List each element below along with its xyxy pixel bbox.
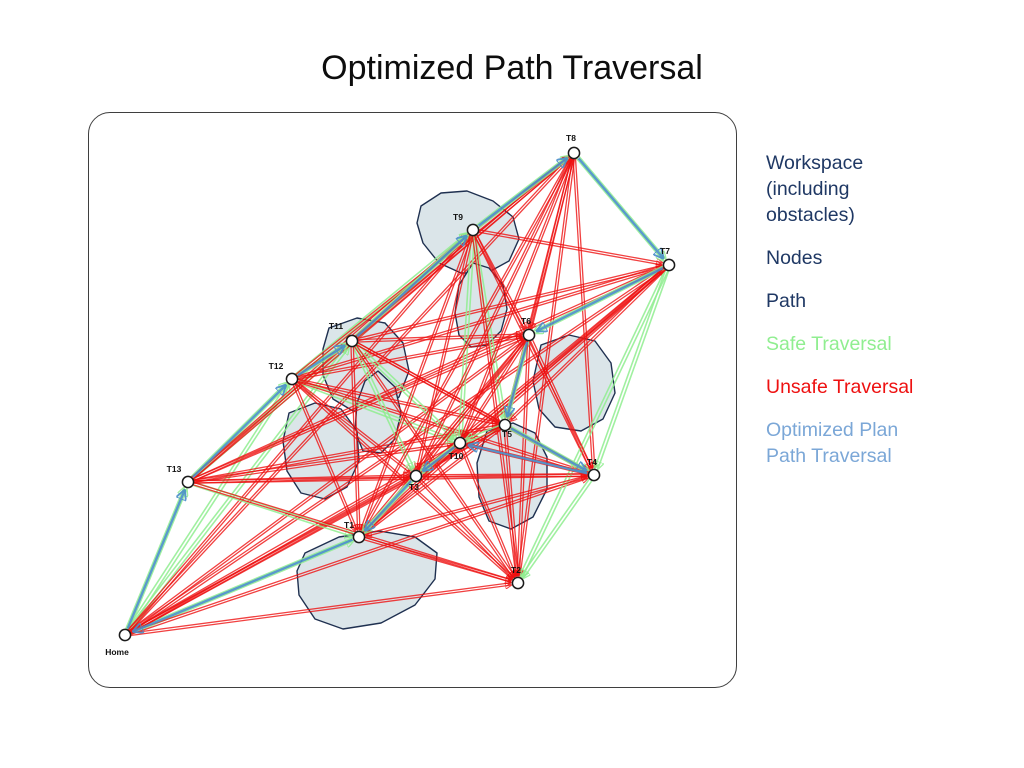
legend-path: Path <box>766 288 996 314</box>
path-traversal-graph: HomeT13T12T11T9T8T7T6T5T4T10T3T1T2 <box>89 113 737 688</box>
legend-unsafe-traversal: Unsafe Traversal <box>766 374 996 400</box>
node-Home[interactable]: Home <box>105 629 130 657</box>
node-label-T11: T11 <box>329 321 343 331</box>
workspace-panel: HomeT13T12T11T9T8T7T6T5T4T10T3T1T2 <box>88 112 737 688</box>
node-label-T12: T12 <box>269 361 284 371</box>
node-T8[interactable]: T8 <box>566 133 580 159</box>
node-marker-T4[interactable] <box>588 469 599 480</box>
edge-unsafe-T11-T7 <box>358 268 662 341</box>
node-marker-T7[interactable] <box>663 259 674 270</box>
edge-safe-T8-T7 <box>579 157 666 259</box>
node-label-T3: T3 <box>409 482 419 492</box>
node-T12[interactable]: T12 <box>269 361 298 385</box>
node-marker-T9[interactable] <box>467 224 478 235</box>
node-marker-T1[interactable] <box>353 531 364 542</box>
edge-unsafe-T4-T3 <box>423 476 588 477</box>
node-marker-T8[interactable] <box>568 147 579 158</box>
node-label-Home: Home <box>105 647 129 657</box>
page-title: Optimized Path Traversal <box>0 48 1024 88</box>
node-label-T8: T8 <box>566 133 576 143</box>
node-marker-T3[interactable] <box>410 470 421 481</box>
node-T13[interactable]: T13 <box>167 464 194 488</box>
legend-workspace: Workspace (including obstacles) <box>766 150 996 228</box>
node-label-T9: T9 <box>453 212 463 222</box>
optimized-segment-T8-T7 <box>579 158 664 258</box>
slide-root: Optimized Path Traversal HomeT13T12T11T9… <box>0 0 1024 768</box>
legend-nodes: Nodes <box>766 245 996 271</box>
edge-safe-T8-T7 <box>577 159 664 261</box>
node-marker-Home[interactable] <box>119 629 130 640</box>
node-label-T7: T7 <box>660 246 670 256</box>
node-label-T6: T6 <box>521 316 531 326</box>
node-marker-T12[interactable] <box>286 373 297 384</box>
node-label-T4: T4 <box>587 457 597 467</box>
node-label-T1: T1 <box>344 520 354 530</box>
edge-unsafe-T4-T3 <box>423 474 588 475</box>
legend-optimized-plan: Optimized Plan Path Traversal <box>766 417 996 469</box>
legend: Workspace (including obstacles)NodesPath… <box>766 150 996 469</box>
node-marker-T2[interactable] <box>512 577 523 588</box>
legend-safe-traversal: Safe Traversal <box>766 331 996 357</box>
obstacle-8 <box>297 531 437 629</box>
node-label-T5: T5 <box>502 429 512 439</box>
node-marker-T13[interactable] <box>182 476 193 487</box>
node-T5[interactable]: T5 <box>499 419 512 439</box>
node-label-T10: T10 <box>449 451 464 461</box>
node-marker-T11[interactable] <box>346 335 357 346</box>
node-label-T13: T13 <box>167 464 182 474</box>
node-marker-T6[interactable] <box>523 329 534 340</box>
node-label-T2: T2 <box>511 565 521 575</box>
node-marker-T10[interactable] <box>454 437 465 448</box>
